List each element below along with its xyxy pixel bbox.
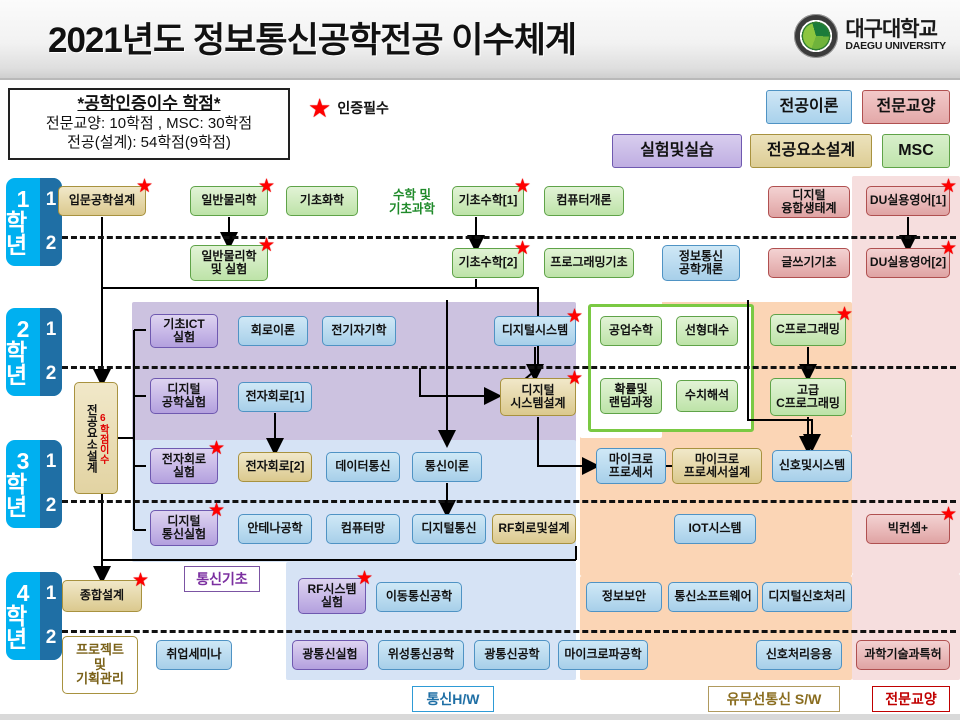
year-number-1: 1	[17, 188, 30, 211]
course-label: 공업수학	[609, 324, 653, 337]
semester-4-2: 2	[46, 627, 57, 649]
course-box-c45[interactable]: 통신소프트웨어	[668, 582, 758, 612]
course-label: 신호및시스템	[779, 459, 845, 472]
course-box-c20[interactable]: C프로그래밍	[770, 314, 846, 346]
semester-3-2: 2	[46, 495, 57, 517]
design-element-track-box: 전공요소설계 6학점이수	[74, 382, 118, 494]
course-label: 통신이론	[425, 460, 469, 473]
course-box-c13[interactable]: DU실용영어[2]	[866, 248, 950, 278]
year-word-4: 학년	[6, 605, 40, 651]
course-box-c51[interactable]: 광통신공학	[474, 640, 550, 670]
course-box-c42[interactable]: RF시스템실험	[298, 578, 366, 614]
course-label: 통신소프트웨어	[674, 590, 751, 603]
course-label: 디지털통신실험	[162, 515, 206, 542]
required-star-label: 인증필수	[337, 98, 389, 118]
track-legend-liberal: 전문교양	[872, 686, 950, 712]
year-label-4: 4 학년 1 2	[6, 572, 62, 660]
course-box-c28[interactable]: 전자회로[2]	[238, 452, 312, 482]
course-label: DU실용영어[2]	[870, 256, 946, 269]
year-word-1: 학년	[6, 211, 40, 257]
course-box-c53[interactable]: 신호처리응용	[756, 640, 842, 670]
course-label: 프로그래밍기초	[550, 256, 627, 269]
course-box-c9[interactable]: 기초수학[2]	[452, 248, 524, 278]
course-label: 전기자기학	[331, 324, 386, 337]
credits-line-2: 전문교양: 10학점 , MSC: 30학점	[10, 114, 288, 133]
math-science-label-line1: 수학 및	[372, 188, 452, 202]
course-box-c39[interactable]: IOT시스템	[674, 514, 756, 544]
course-label: 전자회로실험	[162, 453, 206, 480]
course-label: 디지털시스템설계	[510, 384, 565, 411]
required-star-legend: ★ 인증필수	[308, 95, 389, 121]
university-name-en: DAEGU UNIVERSITY	[845, 40, 946, 53]
course-label: 선형대수	[685, 324, 729, 337]
page-title: 2021년도 정보통신공학전공 이수체계	[48, 12, 576, 63]
course-label: 글쓰기기초	[781, 256, 836, 269]
course-box-c21[interactable]: 디지털공학실험	[150, 378, 218, 414]
year-number-2: 2	[17, 318, 30, 341]
math-science-section-label: 수학 및 기초과학	[372, 188, 452, 217]
course-label: C프로그래밍	[776, 323, 840, 336]
course-box-c26[interactable]: 고급C프로그래밍	[770, 378, 846, 416]
course-box-c4[interactable]: 기초수학[1]	[452, 186, 524, 216]
course-label: 과학기술과특허	[864, 648, 941, 661]
course-label: 컴퓨터개론	[556, 194, 611, 207]
course-label: 회로이론	[251, 324, 295, 337]
page-header: 2021년도 정보통신공학전공 이수체계 대구대학교 DAEGU UNIVERS…	[0, 0, 960, 80]
course-box-c2[interactable]: 일반물리학	[190, 186, 268, 216]
course-box-c29[interactable]: 데이터통신	[326, 452, 400, 482]
year-number-4: 4	[17, 582, 30, 605]
course-label: 광통신실험	[302, 648, 357, 661]
course-box-c14[interactable]: 기초ICT실험	[150, 314, 218, 348]
course-label: 이동통신공학	[386, 590, 452, 603]
course-label: IOT시스템	[688, 522, 741, 535]
course-box-c7[interactable]: DU실용영어[1]	[866, 186, 950, 216]
course-label: 디지털통신	[421, 522, 476, 535]
course-box-c47[interactable]: 프로젝트및기획관리	[62, 636, 138, 694]
course-label: 컴퓨터망	[341, 522, 385, 535]
course-box-c30[interactable]: 통신이론	[412, 452, 482, 482]
course-label: 일반물리학	[201, 194, 256, 207]
accreditation-credits-box: *공학인증이수 학점* 전문교양: 10학점 , MSC: 30학점 전공(설계…	[8, 88, 290, 160]
design-track-credit-note: 6학점이수	[97, 413, 107, 464]
course-box-c46[interactable]: 디지털신호처리	[762, 582, 852, 612]
year-word-3: 학년	[6, 473, 40, 519]
legend-chip-design: 전공요소설계	[750, 134, 872, 168]
semester-1-2: 2	[46, 233, 57, 255]
semester-separator-2	[62, 366, 956, 369]
course-label: 정보통신공학개론	[679, 250, 723, 277]
semester-separator-3	[62, 500, 956, 503]
course-box-c23[interactable]: 디지털시스템설계	[500, 378, 576, 416]
course-box-c43[interactable]: 이동통신공학	[376, 582, 462, 612]
course-box-c49[interactable]: 광통신실험	[292, 640, 368, 670]
course-label: 기초ICT실험	[163, 318, 204, 345]
legend-chip-theory: 전공이론	[766, 90, 852, 124]
math-science-label-line2: 기초과학	[372, 202, 452, 216]
course-label: 마이크로프로세서	[609, 453, 653, 480]
course-label: 마이크로프로세서설계	[684, 453, 750, 480]
course-box-c22[interactable]: 전자회로[1]	[238, 382, 312, 412]
course-box-c8[interactable]: 일반물리학및 실험	[190, 245, 268, 281]
bottom-bar	[0, 714, 960, 720]
course-box-c40[interactable]: 빅컨셉+	[866, 514, 950, 544]
course-label: 종합설계	[80, 589, 124, 602]
course-label: 위성통신공학	[388, 648, 454, 661]
course-label: 일반물리학및 실험	[201, 250, 256, 277]
course-box-c10[interactable]: 프로그래밍기초	[544, 248, 634, 278]
course-box-c15[interactable]: 회로이론	[238, 316, 308, 346]
course-label: 디지털융합생태계	[781, 189, 836, 216]
course-box-c16[interactable]: 전기자기학	[322, 316, 396, 346]
course-box-c31[interactable]: 마이크로프로세서	[596, 448, 666, 484]
course-label: 마이크로파공학	[564, 648, 641, 661]
course-box-c52[interactable]: 마이크로파공학	[558, 640, 648, 670]
course-label: DU실용영어[1]	[870, 194, 946, 207]
legend-chip-msc: MSC	[882, 134, 950, 168]
course-box-c37[interactable]: 디지털통신	[412, 514, 486, 544]
course-box-c18[interactable]: 공업수학	[600, 316, 662, 346]
course-box-c12[interactable]: 글쓰기기초	[768, 248, 850, 278]
course-label: 기초화학	[300, 194, 344, 207]
course-box-c6[interactable]: 디지털융합생태계	[768, 186, 850, 218]
course-box-c27[interactable]: 전자회로실험	[150, 448, 218, 484]
course-box-c19[interactable]: 선형대수	[676, 316, 738, 346]
course-label: 수치해석	[685, 389, 729, 402]
course-box-c11[interactable]: 정보통신공학개론	[662, 245, 740, 281]
year-number-3: 3	[17, 450, 30, 473]
year-word-2: 학년	[6, 341, 40, 387]
university-emblem-icon	[794, 14, 838, 58]
course-label: 기초수학[1]	[459, 194, 518, 207]
course-label: 안테나공학	[247, 522, 302, 535]
credits-title: *공학인증이수 학점*	[10, 93, 288, 114]
course-label: 정보보안	[602, 590, 646, 603]
course-box-c44[interactable]: 정보보안	[586, 582, 662, 612]
year-label-2: 2 학년 1 2	[6, 308, 62, 396]
course-label: 확률및랜덤과정	[609, 383, 653, 410]
course-box-c24[interactable]: 확률및랜덤과정	[600, 378, 662, 414]
course-label: RF시스템실험	[307, 583, 356, 610]
course-box-c33[interactable]: 신호및시스템	[772, 450, 852, 482]
course-label: 디지털공학실험	[162, 383, 206, 410]
semester-1-1: 1	[46, 189, 57, 211]
course-label: RF회로및설계	[498, 522, 569, 535]
semester-3-1: 1	[46, 451, 57, 473]
track-legend-comm-sw: 유무선통신 S/W	[708, 686, 840, 712]
course-box-c48[interactable]: 취업세미나	[156, 640, 232, 670]
course-box-c36[interactable]: 컴퓨터망	[326, 514, 400, 544]
course-box-c5[interactable]: 컴퓨터개론	[544, 186, 624, 216]
course-label: 신호처리응용	[766, 648, 832, 661]
course-label: 고급C프로그래밍	[776, 384, 840, 411]
semester-2-2: 2	[46, 363, 57, 385]
track-legend-comm-hw: 통신H/W	[412, 686, 494, 712]
course-box-c50[interactable]: 위성통신공학	[378, 640, 464, 670]
design-track-label: 전공요소설계	[85, 404, 97, 473]
year-label-1: 1 학년 1 2	[6, 178, 62, 266]
course-box-c1[interactable]: 입문공학설계	[58, 186, 146, 216]
course-box-c25[interactable]: 수치해석	[676, 380, 738, 412]
course-box-c54[interactable]: 과학기술과특허	[856, 640, 950, 670]
university-logo: 대구대학교 DAEGU UNIVERSITY	[794, 14, 946, 58]
course-box-c17[interactable]: 디지털시스템	[494, 316, 576, 346]
legend-chip-lab: 실험및실습	[612, 134, 742, 168]
star-icon: ★	[308, 95, 331, 121]
course-label: 전자회로[2]	[246, 460, 305, 473]
course-label: 취업세미나	[166, 648, 221, 661]
course-box-c38[interactable]: RF회로및설계	[492, 514, 576, 544]
course-box-c32[interactable]: 마이크로프로세서설계	[672, 448, 762, 484]
course-label: 프로젝트및기획관리	[76, 643, 124, 687]
course-box-c3[interactable]: 기초화학	[286, 186, 358, 216]
course-label: 데이터통신	[335, 460, 390, 473]
university-name-ko: 대구대학교	[845, 19, 946, 40]
course-label: 디지털신호처리	[768, 590, 845, 603]
course-label: 기초수학[2]	[459, 256, 518, 269]
year-label-3: 3 학년 1 2	[6, 440, 62, 528]
semester-separator-4	[62, 630, 956, 633]
credits-line-3: 전공(설계): 54학점(9학점)	[10, 133, 288, 152]
semester-2-1: 1	[46, 319, 57, 341]
course-label: 전자회로[1]	[246, 390, 305, 403]
course-box-c41[interactable]: 종합설계	[62, 580, 142, 612]
course-label: 빅컨셉+	[888, 522, 928, 535]
track-legend-comm-basic: 통신기초	[184, 566, 260, 592]
course-box-c35[interactable]: 안테나공학	[238, 514, 312, 544]
semester-4-1: 1	[46, 583, 57, 605]
course-box-c34[interactable]: 디지털통신실험	[150, 510, 218, 546]
legend-chip-liberal: 전문교양	[862, 90, 950, 124]
course-label: 디지털시스템	[502, 324, 568, 337]
semester-separator-1	[62, 236, 956, 239]
course-label: 광통신공학	[484, 648, 539, 661]
course-label: 입문공학설계	[69, 194, 135, 207]
